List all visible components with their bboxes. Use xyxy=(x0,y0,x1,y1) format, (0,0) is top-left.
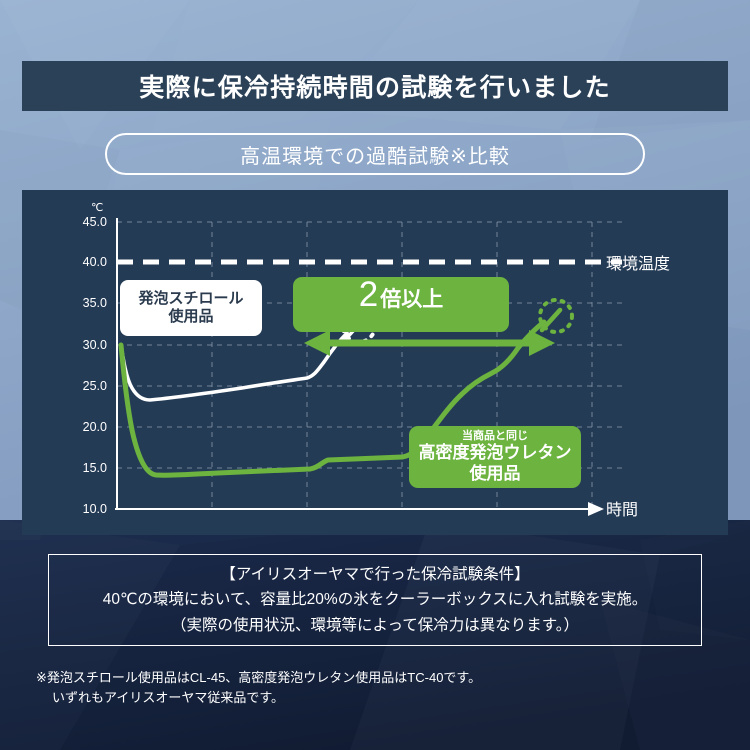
test-conditions-box: 【アイリスオーヤマで行った保冷試験条件】 40℃の環境において、容量比20%の氷… xyxy=(48,554,702,646)
urethane-callout-line3: 使用品 xyxy=(470,464,521,485)
test-conditions-heading: 【アイリスオーヤマで行った保冷試験条件】 xyxy=(220,562,529,587)
footnote-line1: ※発泡スチロール使用品はCL-45、高密度発泡ウレタン使用品はTC-40です。 xyxy=(36,668,481,688)
subtitle-text: 高温環境での過酷試験※比較 xyxy=(240,140,510,169)
styrofoam-callout-line1: 発泡スチロール xyxy=(138,290,243,308)
ambient-temperature-label: 環境温度 xyxy=(606,250,670,274)
styrofoam-callout: 発泡スチロール 使用品 xyxy=(120,280,262,336)
multiplier-value: 2 xyxy=(359,277,378,312)
urethane-callout: 当商品と同じ 高密度発泡ウレタン 使用品 xyxy=(409,426,581,488)
urethane-callout-line2: 高密度発泡ウレタン xyxy=(419,443,572,464)
chart-panel: 45.0 40.0 35.0 30.0 25.0 20.0 15.0 10.0 xyxy=(22,190,728,535)
urethane-callout-line1: 当商品と同じ xyxy=(462,430,528,443)
styrofoam-callout-line2: 使用品 xyxy=(168,308,213,326)
page-title: 実際に保冷持続時間の試験を行いました xyxy=(139,68,611,104)
y-axis-unit-label: ℃ xyxy=(91,201,103,214)
subtitle-pill: 高温環境での過酷試験※比較 xyxy=(105,133,645,175)
footnote-line2: いずれもアイリスオーヤマ従来品です。 xyxy=(36,688,481,708)
x-axis-label: 時間 xyxy=(606,496,638,520)
multiplier-banner: 2 倍以上 xyxy=(293,277,509,332)
test-conditions-detail: 40℃の環境において、容量比20%の氷をクーラーボックスに入れ試験を実施。 xyxy=(103,587,647,612)
multiplier-suffix: 倍以上 xyxy=(380,287,443,313)
test-conditions-disclaimer: （実際の使用状況、環境等によって保冷力は異なります。） xyxy=(171,613,579,638)
footnote: ※発泡スチロール使用品はCL-45、高密度発泡ウレタン使用品はTC-40です。 … xyxy=(36,668,481,708)
header-banner: 実際に保冷持続時間の試験を行いました xyxy=(22,61,728,111)
